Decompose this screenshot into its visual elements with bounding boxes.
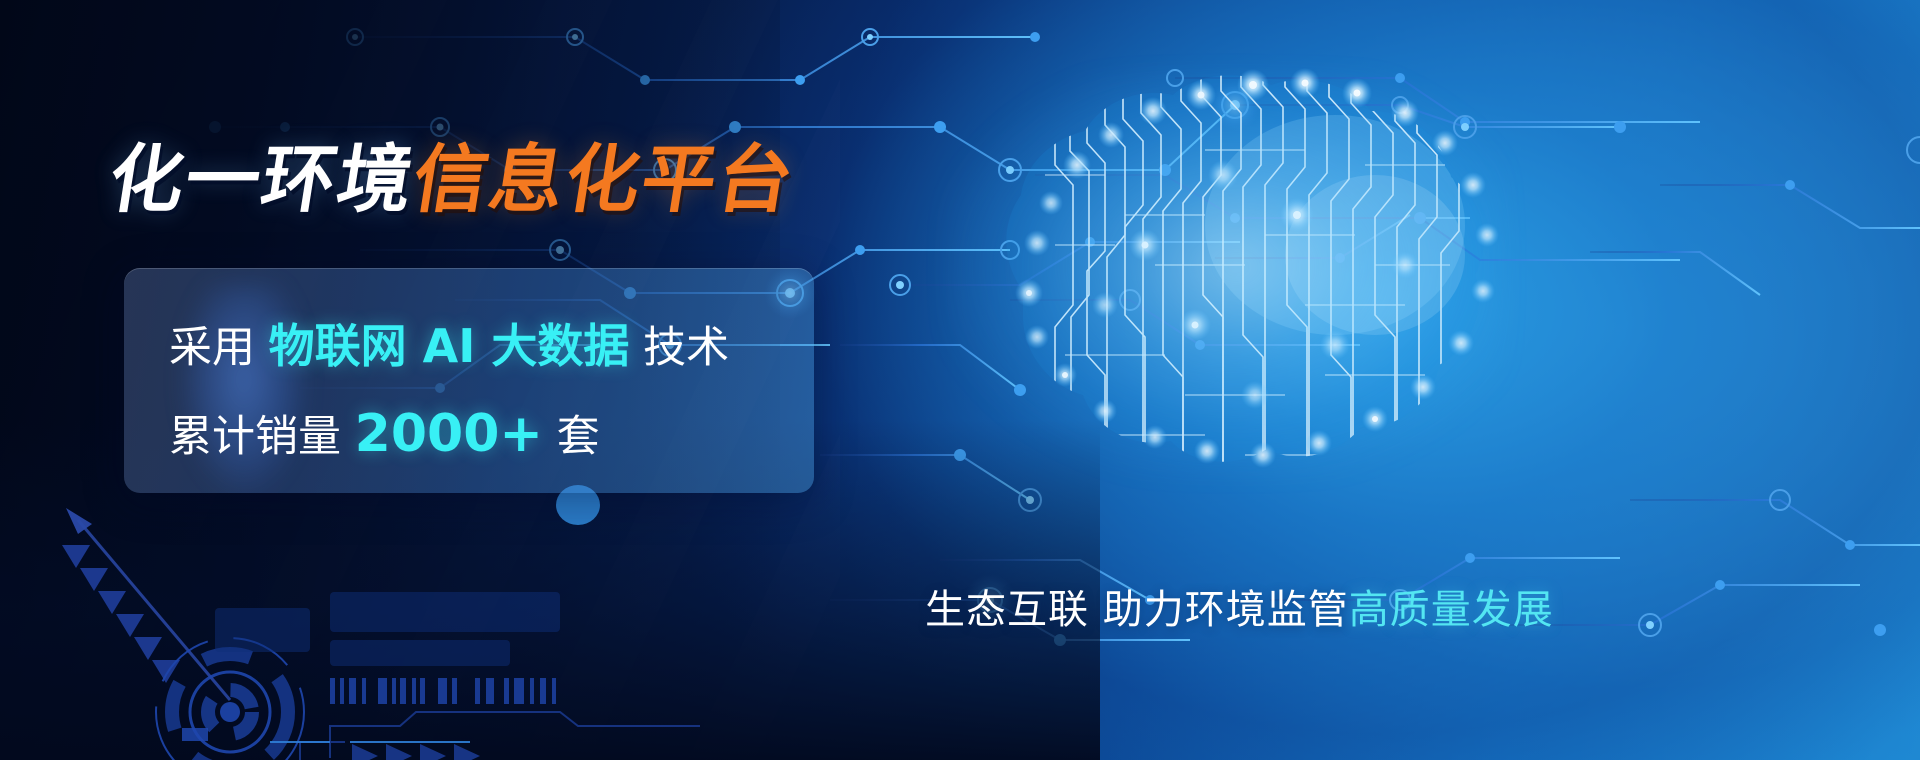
tagline: 生态互联 助力环境监管高质量发展 [925, 590, 1554, 630]
tech-highlight: 物联网 AI 大数据 [269, 319, 630, 373]
hud-panel-lines [300, 712, 700, 760]
tagline-white: 生态互联 助力环境监管 [925, 587, 1349, 633]
ai-circuit-brain [905, 55, 1545, 485]
feature-line-technology: 采用 物联网 AI 大数据 技术 [169, 323, 729, 370]
arrow-with-triangles [62, 508, 230, 700]
title-orange: 信息化平台 [407, 137, 801, 223]
brain-glow [945, 75, 1505, 475]
page-title: 化一环境信息化平台 [104, 143, 800, 217]
feature-card: 采用 物联网 AI 大数据 技术 累计销量 2000+ 套 [124, 268, 814, 493]
tagline-cyan: 高质量发展 [1349, 587, 1554, 633]
sales-prefix: 累计销量 [169, 412, 341, 462]
brain-svg [905, 55, 1545, 485]
hud-ring-center [220, 702, 240, 722]
sales-suffix: 套 [557, 412, 600, 462]
triangle-arrow-row [352, 744, 480, 760]
tech-barcode-marks [330, 678, 556, 704]
tech-suffix: 技术 [643, 323, 729, 373]
sales-count: 2000+ [355, 404, 543, 464]
hero-banner: 化一环境信息化平台 采用 物联网 AI 大数据 技术 累计销量 2000+ 套 … [0, 0, 1920, 760]
feature-line-sales: 累计销量 2000+ 套 [169, 408, 600, 460]
hud-circle-ring [156, 638, 304, 760]
tech-prefix: 采用 [169, 323, 255, 373]
hud-background-blocks [215, 592, 560, 666]
title-white: 化一环境 [103, 137, 421, 223]
